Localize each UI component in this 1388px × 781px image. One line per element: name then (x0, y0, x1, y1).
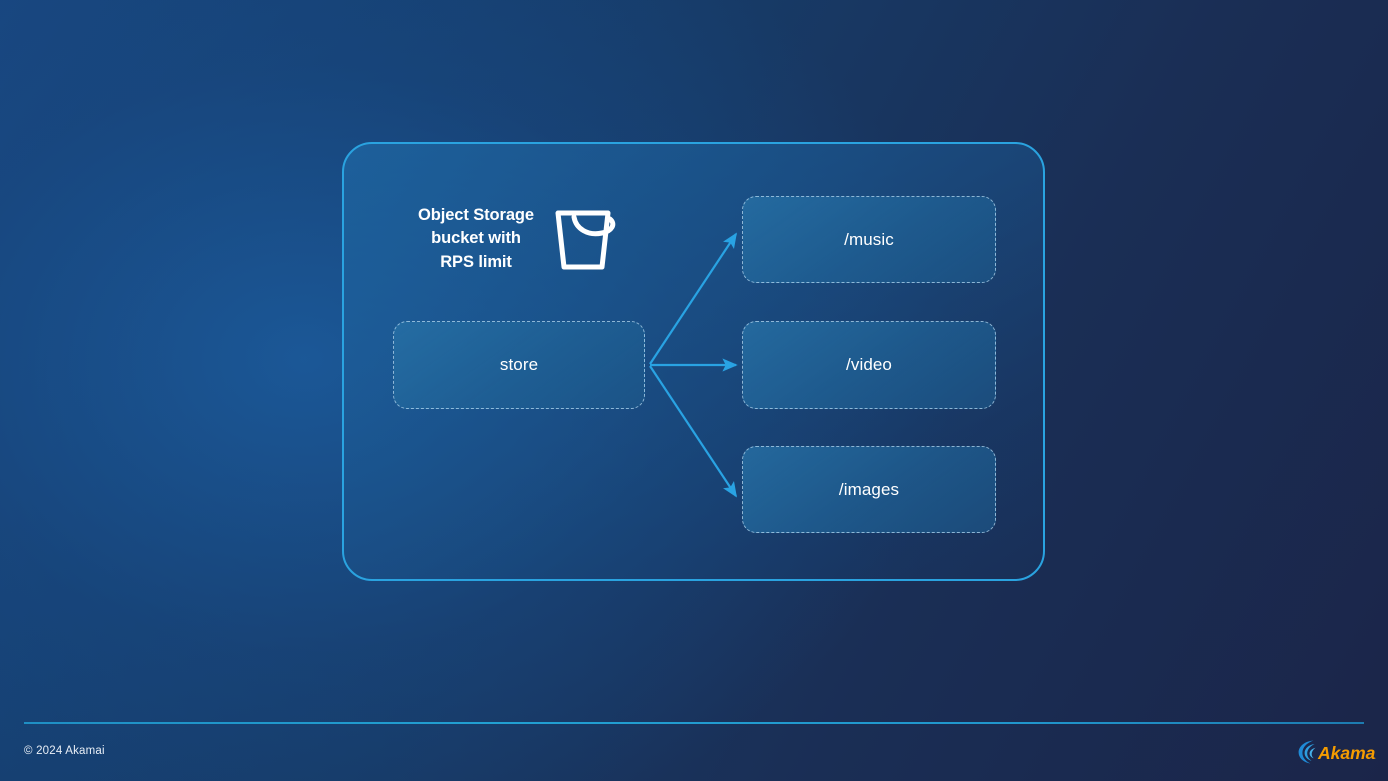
node-store[interactable]: store (393, 321, 645, 409)
node-store-label: store (500, 355, 538, 375)
node-music-label: /music (844, 230, 894, 250)
akamai-logo: Akamai (1296, 738, 1376, 766)
akamai-wordmark: Akamai (1317, 743, 1376, 763)
slide-canvas: Object Storage bucket with RPS limit sto… (0, 0, 1388, 781)
object-storage-bucket-label: Object Storage bucket with RPS limit (418, 204, 534, 274)
object-storage-bucket-group: Object Storage bucket with RPS limit (396, 196, 644, 282)
footer-divider (24, 722, 1364, 724)
node-video[interactable]: /video (742, 321, 996, 409)
copyright-text: © 2024 Akamai (24, 745, 105, 757)
bucket-icon (550, 203, 622, 275)
node-images[interactable]: /images (742, 446, 996, 533)
node-music[interactable]: /music (742, 196, 996, 283)
node-video-label: /video (846, 355, 892, 375)
node-images-label: /images (839, 480, 899, 500)
akamai-swoosh-icon (1299, 741, 1316, 764)
